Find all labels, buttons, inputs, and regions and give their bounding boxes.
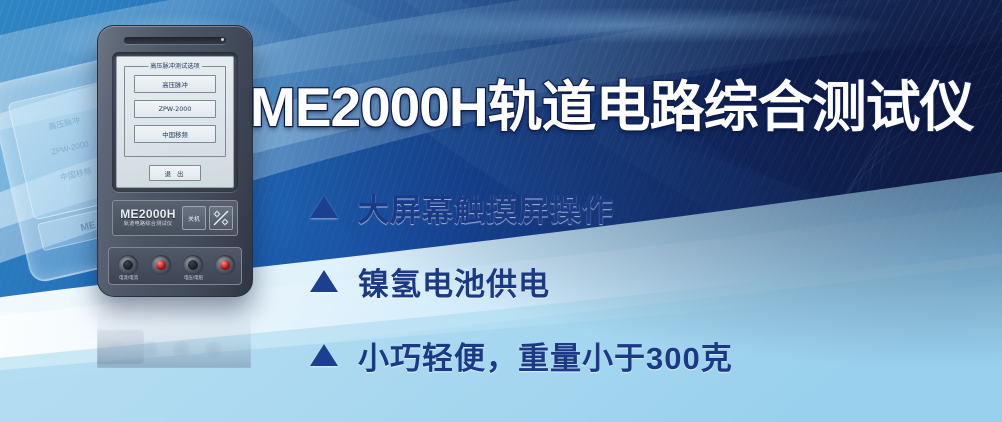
triangle-up-icon: [310, 344, 338, 366]
triangle-up-icon: [310, 270, 338, 292]
page-title: ME2000H轨道电路综合测试仪: [250, 80, 950, 135]
device-brand-name: ME2000H: [117, 208, 179, 220]
reflection-jack-4: [205, 341, 222, 358]
product-device-image: 高压脉冲测试选项 高压脉冲 ZPW-2000 中国移频 退 出 ME2000H …: [97, 25, 253, 297]
device-screen-bezel: 高压脉冲测试选项 高压脉冲 ZPW-2000 中国移频 退 出: [112, 52, 238, 192]
feature-item-3-label: 小巧轻便，重量小于300克: [358, 333, 733, 378]
lcd-button-high-voltage-pulse[interactable]: 高压脉冲: [134, 75, 216, 93]
feature-list: 大屏幕触摸屏操作 镍氢电池供电 小巧轻便，重量小于300克: [310, 178, 950, 400]
triangle-up-icon: [310, 196, 338, 218]
brightness-settings-icon: [212, 209, 230, 227]
banana-jack-4[interactable]: [215, 255, 235, 275]
lcd-menu-group: 高压脉冲测试选项 高压脉冲 ZPW-2000 中国移频: [124, 66, 226, 157]
jack-label-left: 电流/电流: [119, 275, 138, 281]
reflection-jack-3: [173, 341, 190, 358]
banana-jack-1[interactable]: [118, 255, 138, 275]
device-jack-panel: 电流/电流 电压/电阻: [108, 247, 242, 285]
lcd-button-exit[interactable]: 退 出: [149, 165, 201, 181]
device-lcd-screen: 高压脉冲测试选项 高压脉冲 ZPW-2000 中国移频 退 出: [116, 56, 234, 188]
device-front-panel: ME2000H 轨道电路综合测试仪 关机: [112, 200, 238, 236]
reflection-jack-1: [108, 341, 125, 358]
lcd-menu-title: 高压脉冲测试选项: [148, 61, 202, 70]
product-banner: 高压脉冲 ZPW-2000 中国移频 ME 高压脉冲测试选项 高压脉冲 ZPW-…: [0, 0, 1002, 422]
lcd-button-china-shift-freq[interactable]: 中国移频: [134, 125, 216, 143]
feature-item-3: 小巧轻便，重量小于300克: [310, 326, 950, 384]
feature-item-2-label: 镍氢电池供电: [358, 259, 550, 304]
lcd-button-zpw-2000[interactable]: ZPW-2000: [134, 100, 216, 118]
speaker-slot-icon: [124, 37, 226, 44]
indicator-dot-icon: [221, 38, 224, 41]
device-brand-subtitle: 轨道电路综合测试仪: [117, 222, 179, 227]
device-power-off-button[interactable]: 关机: [182, 206, 206, 230]
jack-label-right: 电压/电阻: [184, 275, 203, 281]
banana-jack-3[interactable]: [183, 255, 203, 275]
device-brand-block: ME2000H 轨道电路综合测试仪: [117, 208, 179, 227]
feature-item-1: 大屏幕触摸屏操作: [310, 178, 950, 236]
banana-jack-2[interactable]: [151, 255, 171, 275]
reflection-jack-2: [141, 341, 158, 358]
device-settings-button[interactable]: [209, 206, 233, 230]
feature-item-2: 镍氢电池供电: [310, 252, 950, 310]
device-reflection: [97, 298, 251, 368]
feature-item-1-label: 大屏幕触摸屏操作: [358, 185, 614, 230]
